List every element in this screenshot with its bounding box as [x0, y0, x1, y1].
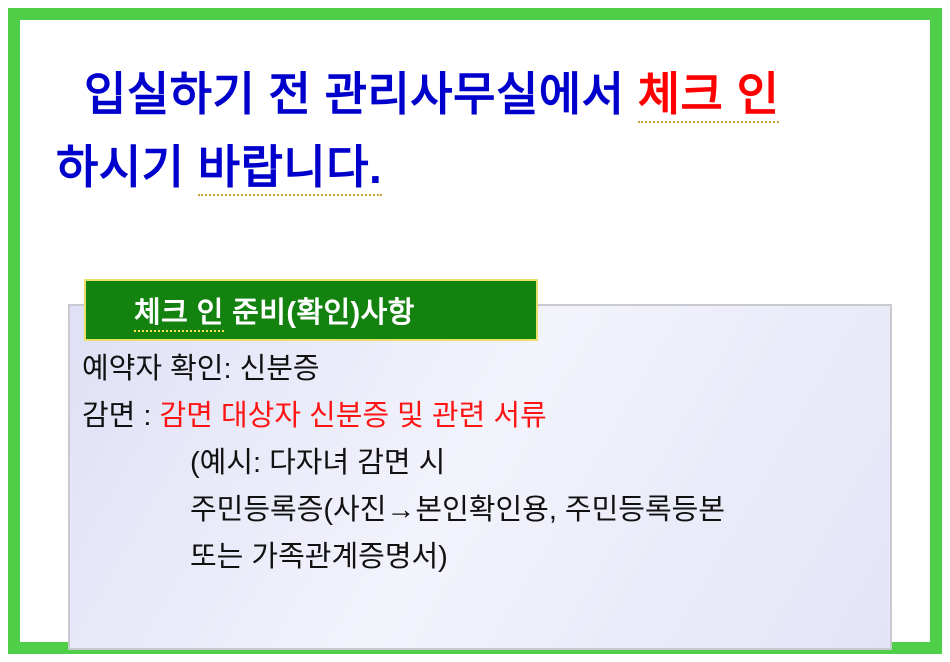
requirement-row-example-3: 또는 가족관계증명서)	[82, 534, 882, 581]
headline-line-1-text: 입실하기 전 관리사무실에서	[84, 68, 638, 120]
page-title: 입실하기 전 관리사무실에서 체크 인 하시기 바랍니다.	[56, 58, 936, 203]
headline-line-2: 하시기 바랍니다.	[56, 131, 936, 204]
headline-line-1: 입실하기 전 관리사무실에서 체크 인	[56, 58, 936, 131]
headline-line-2-underlined: 바랍니다.	[198, 141, 383, 196]
green-border-frame: 입실하기 전 관리사무실에서 체크 인 하시기 바랍니다. 체크 인 준비(확인…	[8, 8, 942, 654]
section-header-banner: 체크 인 준비(확인)사항	[84, 279, 538, 341]
requirement-reservation-text: 예약자 확인: 신분증	[82, 353, 320, 385]
slide-canvas: 입실하기 전 관리사무실에서 체크 인 하시기 바랍니다. 체크 인 준비(확인…	[0, 0, 950, 662]
requirement-example-2-text: 주민등록증(사진→본인확인용, 주민등록등본	[190, 494, 725, 526]
headline-line-2-text: 하시기	[56, 141, 198, 193]
checkin-requirements-list: 예약자 확인: 신분증 감면 : 감면 대상자 신분증 및 관련 서류 (예시:…	[82, 346, 882, 581]
requirement-example-1-text: (예시: 다자녀 감면 시	[190, 447, 445, 479]
requirement-row-example-1: (예시: 다자녀 감면 시	[82, 440, 882, 487]
requirement-example-3-text: 또는 가족관계증명서)	[190, 541, 448, 573]
section-header-rest: 준비(확인)사항	[224, 297, 415, 329]
requirement-discount-value: 감면 대상자 신분증 및 관련 서류	[160, 400, 547, 432]
requirement-row-example-2: 주민등록증(사진→본인확인용, 주민등록등본	[82, 487, 882, 534]
requirement-row-reservation: 예약자 확인: 신분증	[82, 346, 882, 393]
section-header-highlight: 체크 인	[134, 297, 224, 332]
requirement-row-discount: 감면 : 감면 대상자 신분증 및 관련 서류	[82, 393, 882, 440]
section-header-label: 체크 인 준비(확인)사항	[134, 289, 415, 331]
requirement-discount-label: 감면 :	[82, 400, 160, 432]
headline-highlight-checkin: 체크 인	[638, 68, 780, 123]
